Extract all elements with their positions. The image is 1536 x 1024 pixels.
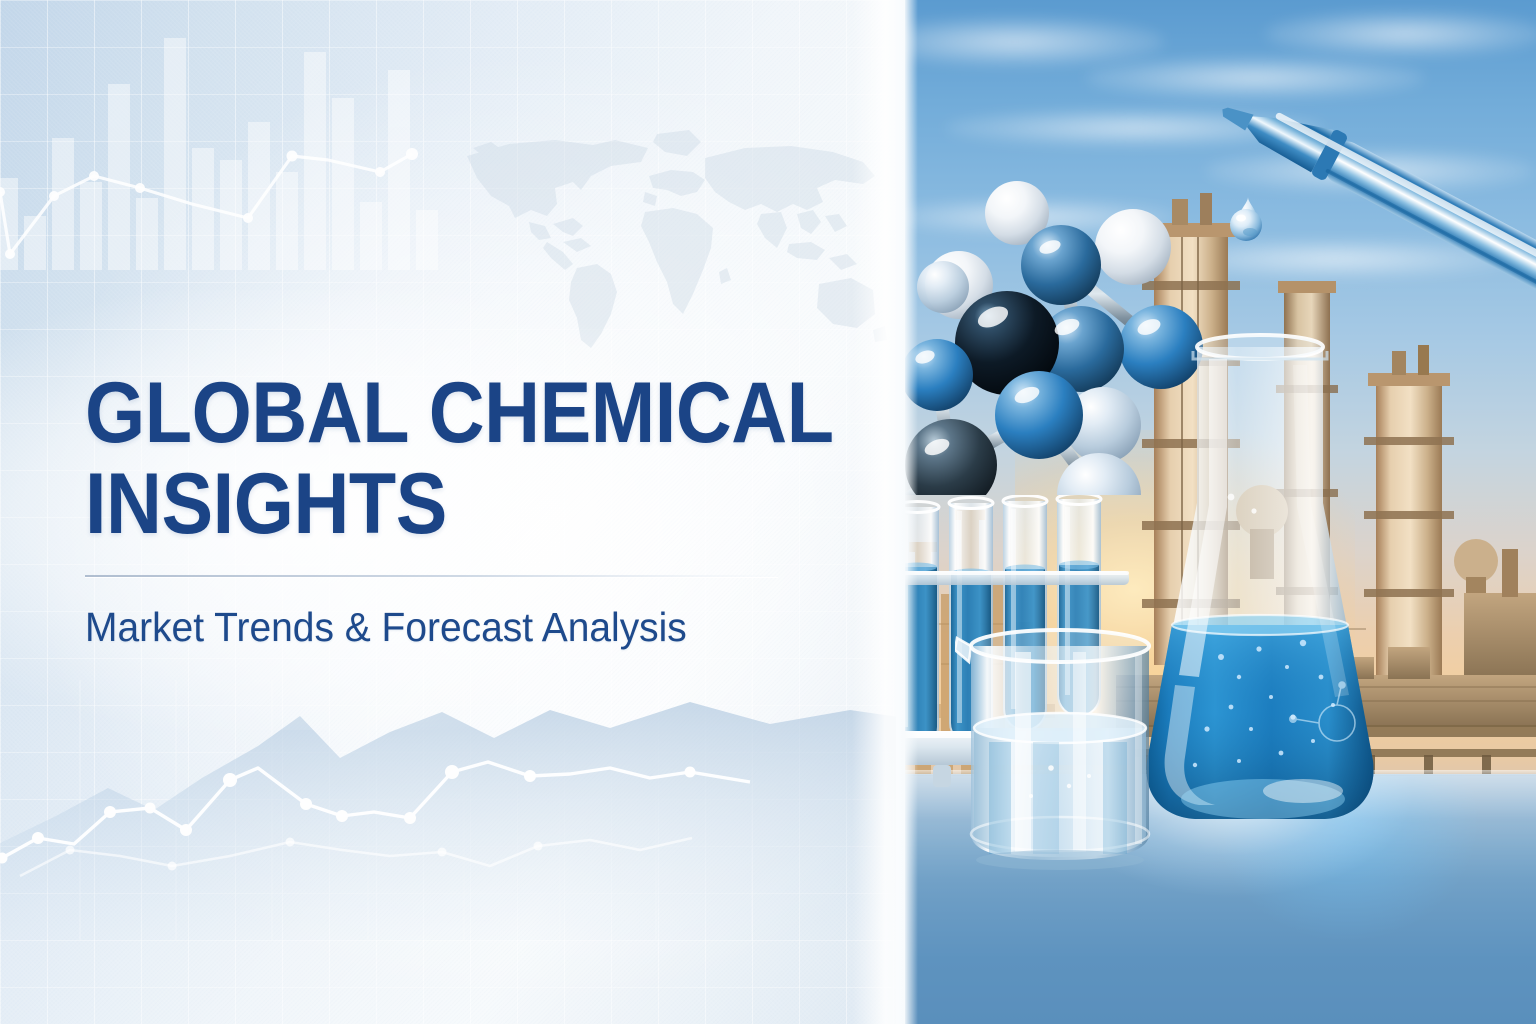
test-tube [905, 502, 939, 750]
erlenmeyer-flask [1135, 325, 1385, 835]
droplet [1230, 197, 1262, 241]
left-content-panel: GLOBAL CHEMICAL INSIGHTS Market Trends &… [0, 0, 912, 1024]
hero-text-block: GLOBAL CHEMICAL INSIGHTS Market Trends &… [85, 372, 805, 649]
lab-photo-panel [905, 0, 1536, 1024]
background-line-chart [0, 130, 462, 290]
page-title-line-2: INSIGHTS [85, 463, 733, 546]
pipette-dropper [1196, 55, 1536, 315]
left-panel-fade [852, 0, 912, 1024]
glass-beaker [955, 620, 1170, 880]
page-subtitle: Market Trends & Forecast Analysis [85, 606, 769, 649]
hero-banner: GLOBAL CHEMICAL INSIGHTS Market Trends &… [0, 0, 1536, 1024]
title-divider [85, 575, 778, 577]
page-title-line-1: GLOBAL CHEMICAL [85, 372, 733, 455]
cloud-shape [1265, 12, 1536, 56]
